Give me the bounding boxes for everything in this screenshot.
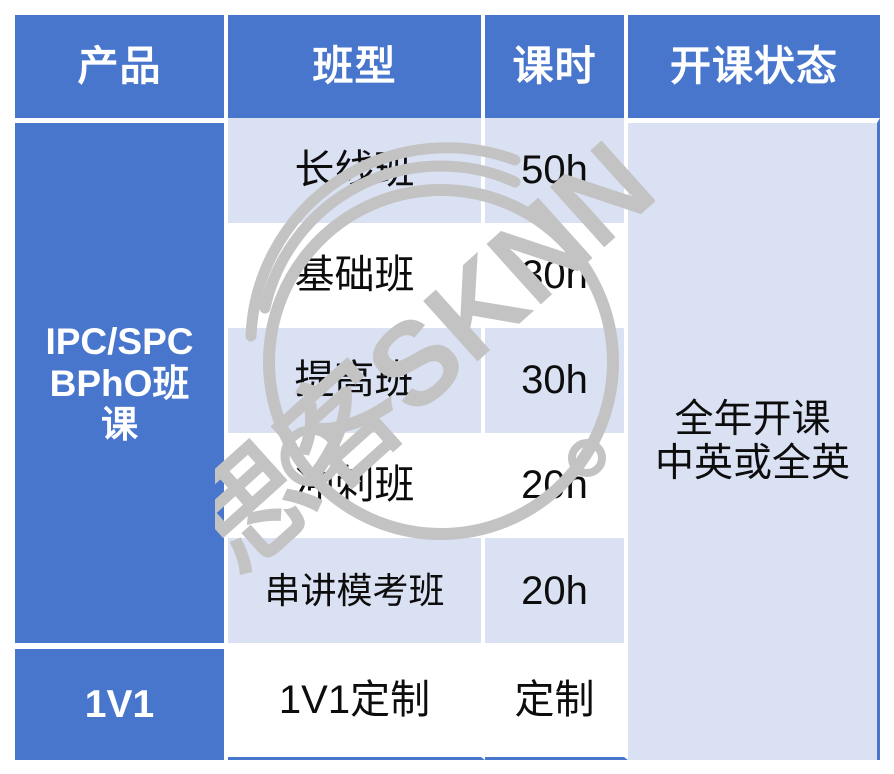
cell-class-type: 串讲模考班	[228, 538, 485, 643]
table-header-row: 产品 班型 课时 开课状态	[15, 15, 880, 118]
pricing-table-wrapper: 产品 班型 课时 开课状态 IPC/SPC BPhO班 课 长线班 50h 全年…	[15, 15, 880, 760]
cell-hours: 定制	[485, 643, 628, 760]
cell-class-type: 1V1定制	[228, 643, 485, 760]
cell-class-type: 基础班	[228, 223, 485, 328]
cell-hours: 30h	[485, 328, 628, 433]
pricing-table: 产品 班型 课时 开课状态 IPC/SPC BPhO班 课 长线班 50h 全年…	[15, 15, 880, 760]
cell-hours: 20h	[485, 538, 628, 643]
table-row: IPC/SPC BPhO班 课 长线班 50h 全年开课 中英或全英	[15, 118, 880, 223]
cell-class-type: 提高班	[228, 328, 485, 433]
status-line-2: 中英或全英	[628, 442, 877, 486]
column-header-product: 产品	[15, 15, 228, 118]
cell-hours: 50h	[485, 118, 628, 223]
table-screenshot-root: 思客SKNN 产品 班型 课时 开课状态	[0, 0, 894, 774]
cell-class-type: 冲刺班	[228, 433, 485, 538]
product-line-1: IPC/SPC	[15, 321, 224, 362]
product-line-2: BPhO班	[15, 363, 224, 404]
column-header-status: 开课状态	[628, 15, 880, 118]
product-cell-ipc-spc-bpho: IPC/SPC BPhO班 课	[15, 118, 228, 643]
status-line-1: 全年开课	[628, 398, 877, 442]
column-header-class-type: 班型	[228, 15, 485, 118]
cell-course-status: 全年开课 中英或全英	[628, 118, 880, 760]
cell-hours: 20h	[485, 433, 628, 538]
cell-class-type: 长线班	[228, 118, 485, 223]
product-cell-1v1: 1V1	[15, 643, 228, 760]
product-line-3: 课	[15, 404, 224, 445]
cell-hours: 30h	[485, 223, 628, 328]
column-header-hours: 课时	[485, 15, 628, 118]
